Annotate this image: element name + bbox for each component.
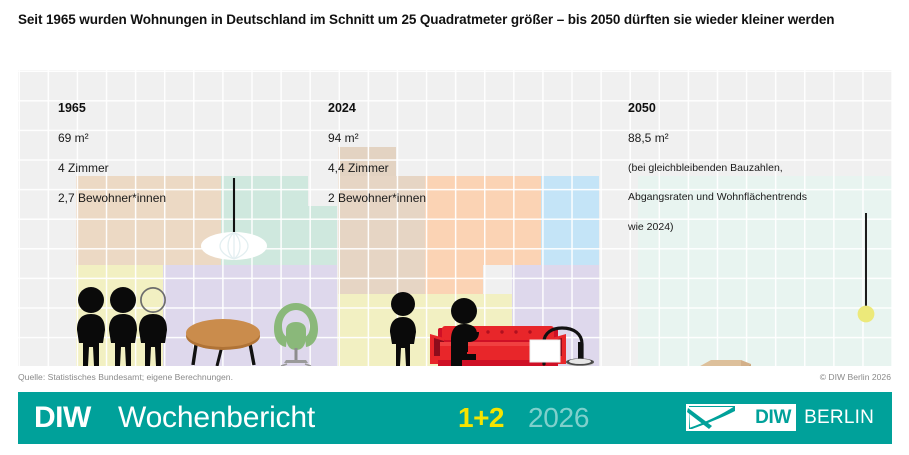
column-2050-area: 88,5 m² [628,132,807,144]
column-2024-residents: 2 Bewohner*innen [328,192,426,204]
person-figure-partial-icon [136,287,170,366]
source-note: Quelle: Statistisches Bundesamt; eigene … [18,372,233,382]
person-figure-icon [74,287,108,366]
infographic-root: Seit 1965 wurden Wohnungen in Deutschlan… [0,0,909,455]
column-2050-note-3: wie 2024) [628,222,807,233]
column-2024: 2024 94 m² 4,4 Zimmer 2 Bewohner*innen [328,102,426,204]
pendant-lamp-icon [194,178,274,260]
chart-panel: 1965 69 m² 4 Zimmer 2,7 Bewohner*innen 2… [18,70,892,366]
diw-swoosh-icon [686,404,738,431]
diw-berlin-logo: DIW BERLIN [686,404,874,431]
brand-issue-number: 1+2 [458,402,504,434]
moving-boxes-icon [673,356,765,366]
floor-lamp-icon [524,326,600,366]
zone-2024-walls-peach [425,176,541,265]
column-2050-year: 2050 [628,102,807,115]
person-figure-icon [388,292,418,366]
zone-2024-walls-peach-2 [425,265,483,294]
column-1965-area: 69 m² [58,132,166,144]
brand-year: 2026 [528,402,589,434]
column-1965: 1965 69 m² 4 Zimmer 2,7 Bewohner*innen [58,102,166,204]
column-2050: 2050 88,5 m² (bei gleichbleibenden Bauza… [628,102,807,232]
brand-diw-label: DIW [34,401,91,435]
hanging-bulb-icon [854,213,878,323]
column-2050-note-1: (bei gleichbleibenden Bauzahlen, [628,163,807,174]
column-2050-note-2: Abgangsraten und Wohnflächentrends [628,192,807,203]
copyright-note: © DIW Berlin 2026 [820,372,891,382]
column-2024-year: 2024 [328,102,426,115]
column-2024-rooms: 4,4 Zimmer [328,162,426,174]
column-2024-area: 94 m² [328,132,426,144]
diw-logo-berlin: BERLIN [804,407,874,429]
column-1965-year: 1965 [58,102,166,115]
person-seated-icon [448,298,486,366]
brand-bar: DIW Wochenbericht 1+2 2026 DIW BERLIN [18,392,892,444]
brand-publication-label: Wochenbericht [118,401,315,435]
page-title: Seit 1965 wurden Wohnungen in Deutschlan… [18,10,894,30]
diw-logo-text: DIW [755,407,796,429]
person-figure-icon [106,287,140,366]
column-1965-rooms: 4 Zimmer [58,162,166,174]
column-1965-residents: 2,7 Bewohner*innen [58,192,166,204]
zone-2024-walls-blue [541,176,599,265]
diw-logo-mark: DIW [686,404,796,431]
office-chair-icon [270,302,322,366]
coffee-table-icon [183,316,263,366]
